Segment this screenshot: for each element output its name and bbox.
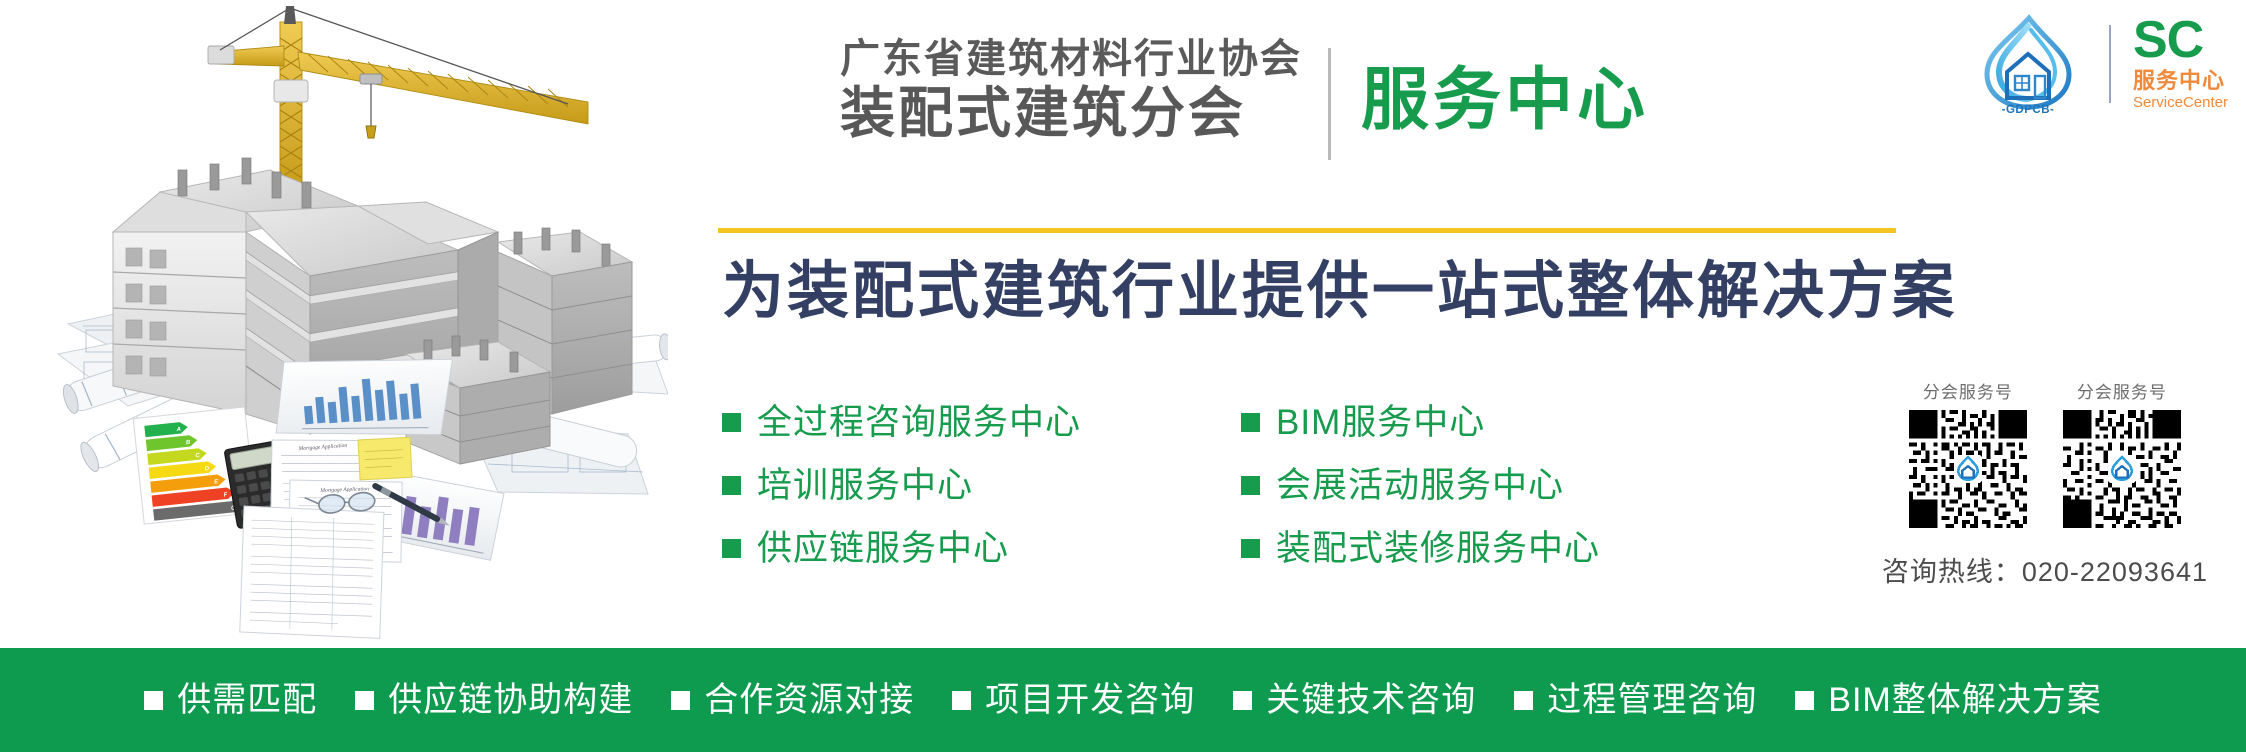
bar-label: 合作资源对接 [704, 683, 914, 717]
service-label: BIM服务中心 [1276, 405, 1485, 440]
bar-label: 供应链协助构建 [388, 683, 633, 717]
bullet-square-icon [355, 691, 374, 710]
logo-separator [2109, 25, 2111, 103]
qr-code-image-1[interactable] [1909, 410, 2027, 528]
service-label: 培训服务中心 [757, 468, 973, 503]
bullet-square-icon [1241, 413, 1260, 432]
service-label: 供应链服务中心 [757, 531, 1009, 566]
title-vertical-divider [1328, 48, 1331, 160]
branch-name: 装配式建筑分会 [840, 83, 1302, 145]
list-item[interactable]: 供应链服务中心 [722, 531, 1081, 566]
service-label: 全过程咨询服务中心 [757, 405, 1081, 440]
organization-name: 广东省建筑材料行业协会 [840, 38, 1302, 81]
svg-text:-GDPCB-: -GDPCB- [2002, 104, 2055, 116]
qr-caption: 分会服务号 [2077, 378, 2167, 403]
service-list-left: 全过程咨询服务中心 培训服务中心 供应链服务中心 [722, 405, 1081, 566]
bullet-square-icon [1241, 476, 1260, 495]
bar-item[interactable]: 供应链协助构建 [355, 683, 633, 717]
service-center-title: 服务中心 [1361, 66, 1649, 134]
bullet-square-icon [671, 691, 690, 710]
list-item[interactable]: 装配式装修服务中心 [1241, 531, 1600, 566]
bottom-service-bar: 供需匹配 供应链协助构建 合作资源对接 项目开发咨询 关键技术咨询 过程管理咨询… [0, 648, 2246, 752]
list-item[interactable]: 会展活动服务中心 [1241, 468, 1600, 503]
sc-english-label: ServiceCenter [2133, 94, 2228, 112]
bullet-square-icon [1241, 539, 1260, 558]
bar-label: 关键技术咨询 [1266, 683, 1476, 717]
qr-cell[interactable]: 分会服务号 [1909, 378, 2027, 528]
bar-label: 项目开发咨询 [985, 683, 1195, 717]
bar-label: 过程管理咨询 [1547, 683, 1757, 717]
qr-caption: 分会服务号 [1923, 378, 2013, 403]
association-titles: 广东省建筑材料行业协会 装配式建筑分会 [840, 38, 1328, 145]
sc-chinese-label: 服务中心 [2133, 68, 2225, 94]
header-title-group: 广东省建筑材料行业协会 装配式建筑分会 服务中心 [840, 38, 1649, 160]
sc-logo: SC 服务中心 ServiceCenter [2133, 16, 2228, 113]
logo-group: -GDPCB- SC 服务中心 ServiceCenter [1969, 12, 2228, 116]
qr-pair: 分会服务号 [1909, 378, 2181, 528]
list-item[interactable]: 全过程咨询服务中心 [722, 405, 1081, 440]
sticky-note [358, 437, 412, 480]
banner-root: ABC DEF G [0, 0, 2246, 752]
bullet-square-icon [722, 476, 741, 495]
gdpcb-logo-icon: -GDPCB- [1969, 12, 2087, 116]
bar-item[interactable]: 供需匹配 [144, 683, 317, 717]
sc-initials: SC [2133, 16, 2203, 65]
bullet-square-icon [1795, 691, 1814, 710]
bullet-square-icon [952, 691, 971, 710]
bullet-square-icon [1514, 691, 1533, 710]
bullet-square-icon [722, 413, 741, 432]
bar-chart-blue-sheet [270, 347, 459, 449]
bullet-square-icon [144, 691, 163, 710]
bullet-square-icon [722, 539, 741, 558]
bar-item[interactable]: BIM整体解决方案 [1795, 683, 2101, 717]
bar-label: 供需匹配 [177, 683, 317, 717]
bullet-square-icon [1233, 691, 1252, 710]
bar-item[interactable]: 过程管理咨询 [1514, 683, 1757, 717]
bar-label: BIM整体解决方案 [1828, 683, 2101, 717]
bar-item[interactable]: 项目开发咨询 [952, 683, 1195, 717]
svg-text:A: A [175, 427, 181, 434]
service-label: 装配式装修服务中心 [1276, 531, 1600, 566]
main-headline: 为装配式建筑行业提供一站式整体解决方案 [722, 258, 1957, 326]
bar-item[interactable]: 关键技术咨询 [1233, 683, 1476, 717]
construction-site-image: ABC DEF G [28, 0, 668, 644]
hotline-text: 咨询热线：020-22093641 [1882, 550, 2208, 589]
service-label: 会展活动服务中心 [1276, 468, 1564, 503]
yellow-divider-rule [718, 228, 1896, 233]
service-center-lists: 全过程咨询服务中心 培训服务中心 供应链服务中心 BIM服务中心 会展活动服务中… [722, 405, 1600, 566]
bar-item[interactable]: 合作资源对接 [671, 683, 914, 717]
qr-cell[interactable]: 分会服务号 [2063, 378, 2181, 528]
qr-code-image-2[interactable] [2063, 410, 2181, 528]
list-item[interactable]: 培训服务中心 [722, 468, 1081, 503]
service-list-right: BIM服务中心 会展活动服务中心 装配式装修服务中心 [1241, 405, 1600, 566]
list-item[interactable]: BIM服务中心 [1241, 405, 1600, 440]
qr-and-hotline-group: 分会服务号 [1882, 378, 2208, 589]
